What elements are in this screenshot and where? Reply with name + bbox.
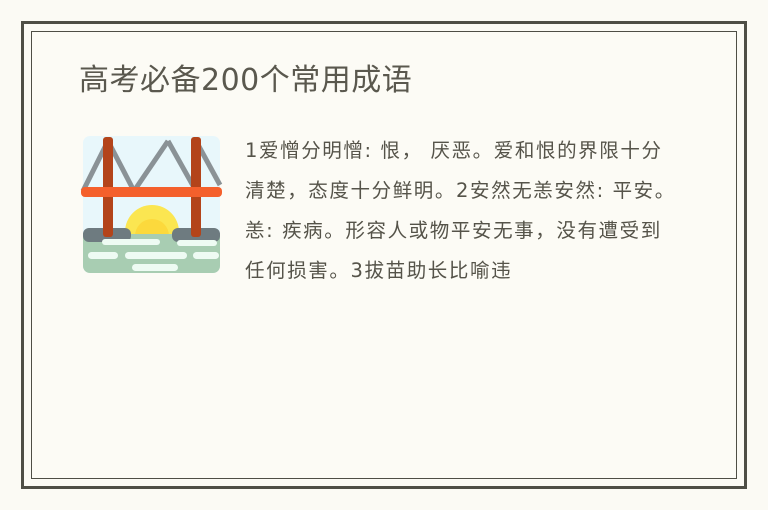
body-row: 1爱憎分明憎: 恨， 厌恶。爱和恨的界限十分清楚，态度十分鲜明。2安然无恙安然:…: [57, 129, 711, 291]
poster-page: 高考必备200个常用成语: [0, 0, 768, 510]
poster-content: 高考必备200个常用成语: [31, 31, 737, 479]
suspension-bridge-sunset-icon: [80, 133, 223, 276]
page-title: 高考必备200个常用成语: [79, 53, 711, 101]
idiom-body-text: 1爱憎分明憎: 恨， 厌恶。爱和恨的界限十分清楚，态度十分鲜明。2安然无恙安然:…: [245, 131, 677, 291]
